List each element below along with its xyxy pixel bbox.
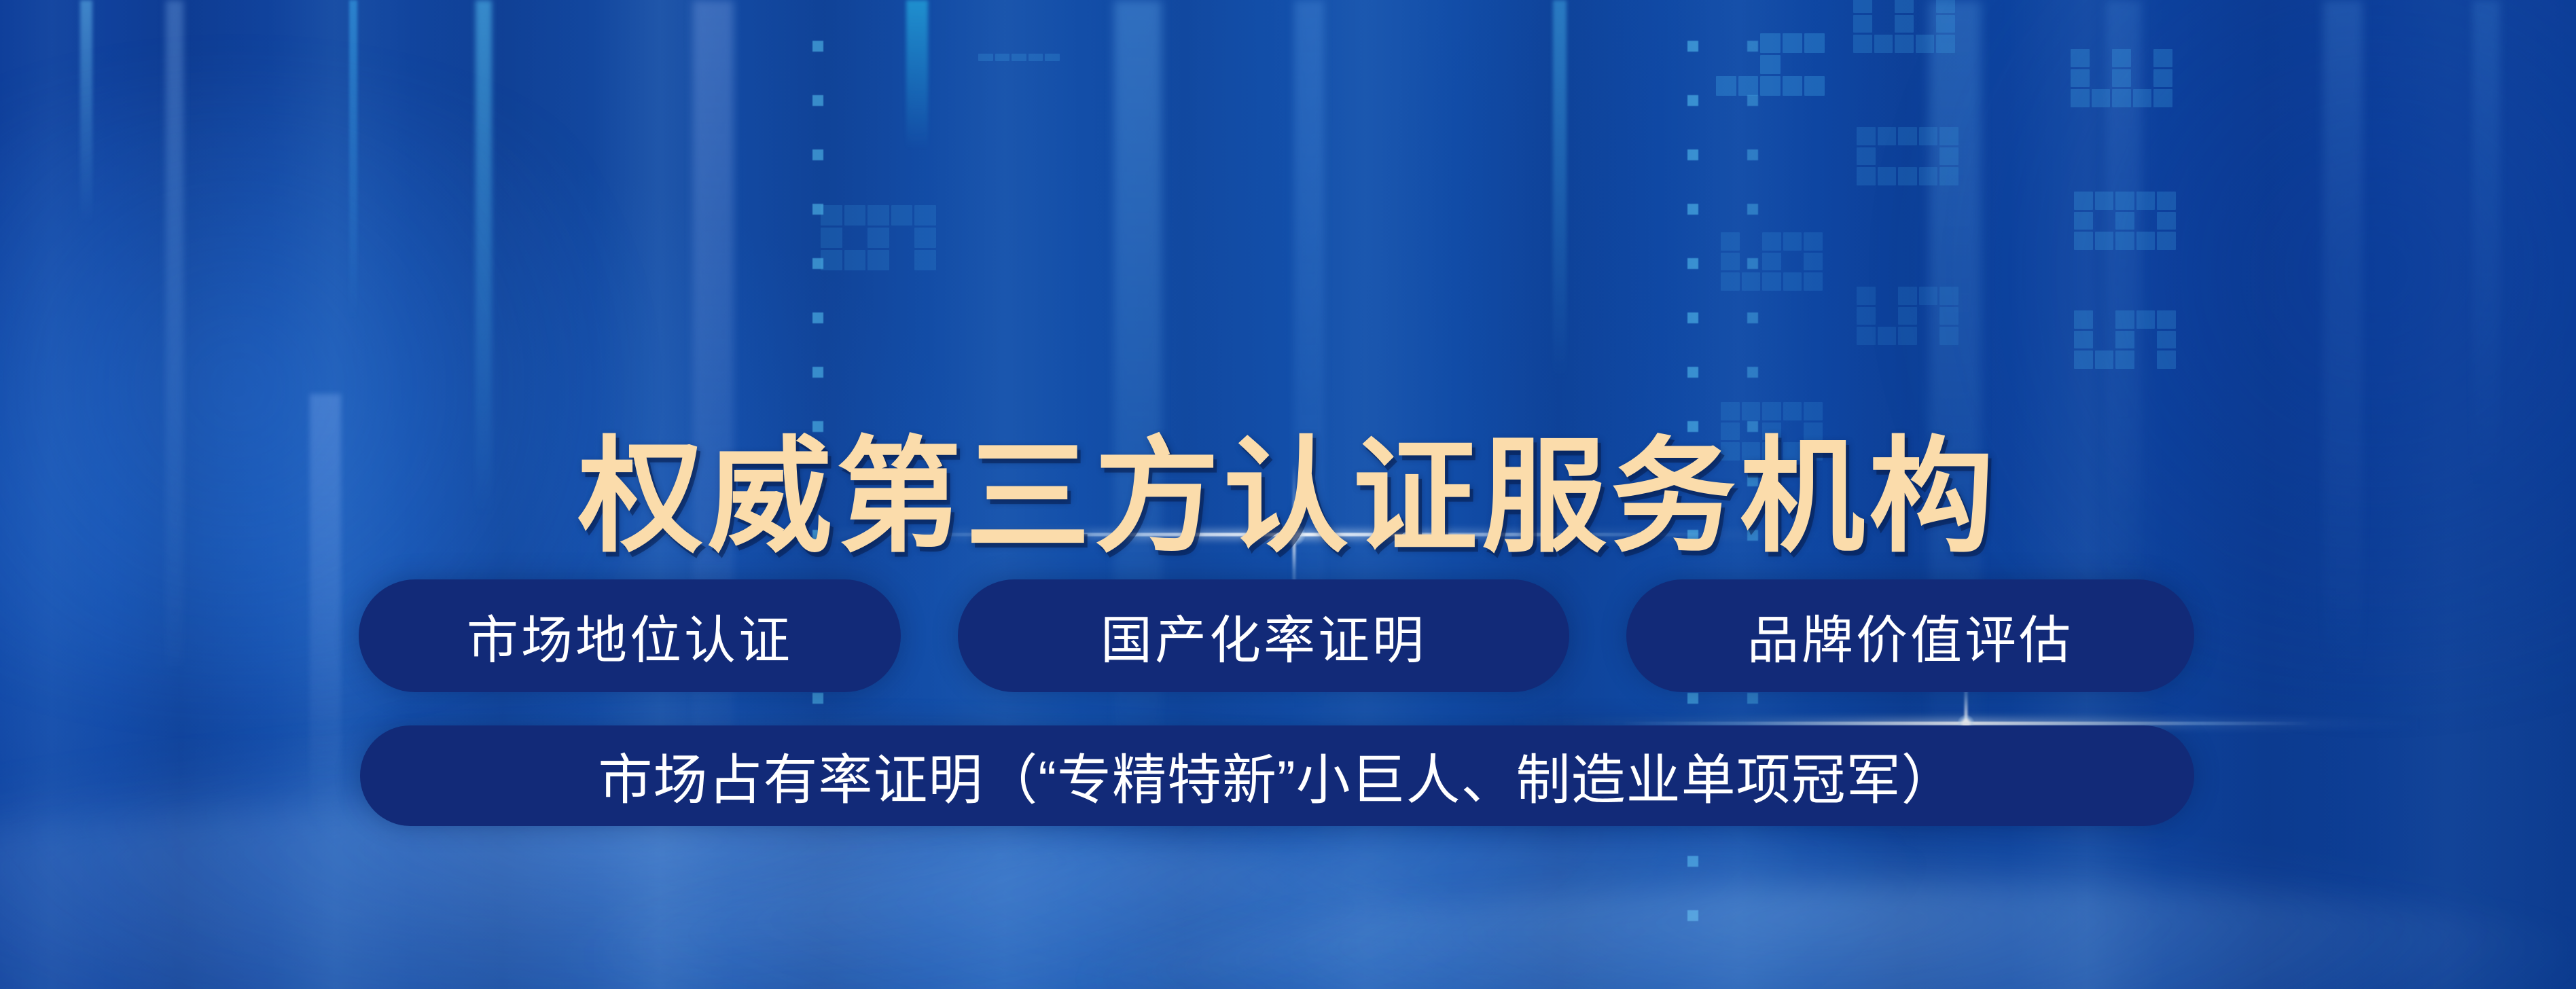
pill-market-position-certification[interactable]: 市场地位认证	[359, 579, 901, 692]
page-title: 权威第三方认证服务机构	[0, 434, 2576, 559]
banner-content: 权威第三方认证服务机构 市场地位认证 国产化率证明 品牌价值评估 市场占有率证明…	[0, 0, 2576, 989]
promo-banner: 权威第三方认证服务机构 市场地位认证 国产化率证明 品牌价值评估 市场占有率证明…	[0, 0, 2576, 989]
pill-localization-rate-proof[interactable]: 国产化率证明	[958, 579, 1569, 692]
certification-pill-row: 市场地位认证 国产化率证明 品牌价值评估	[359, 579, 2194, 692]
pill-market-share-proof[interactable]: 市场占有率证明（“专精特新”小巨人、制造业单项冠军）	[360, 725, 2194, 826]
pill-brand-value-assessment[interactable]: 品牌价值评估	[1626, 579, 2194, 692]
